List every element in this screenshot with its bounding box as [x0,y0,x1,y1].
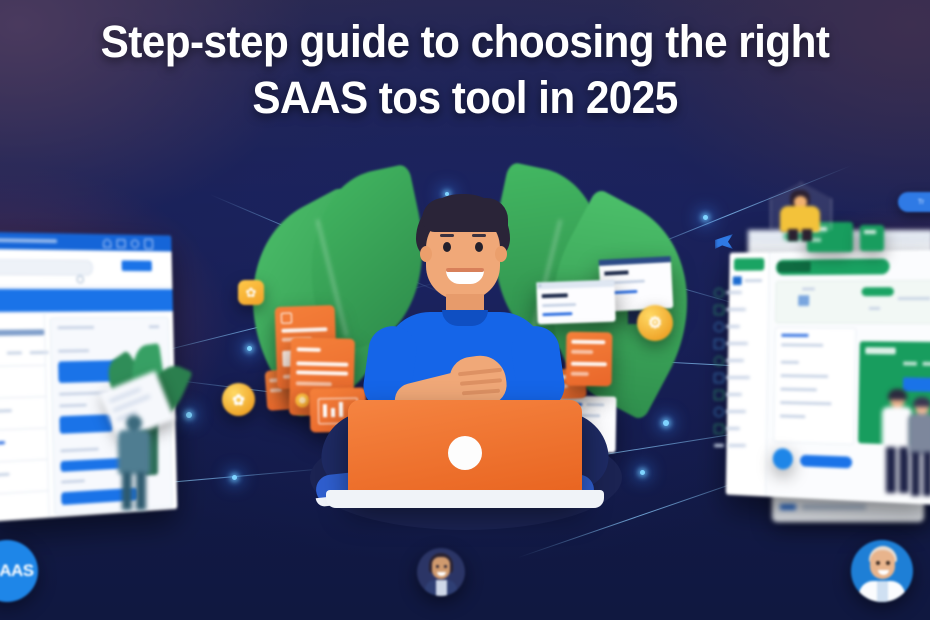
user-icon[interactable] [144,239,153,250]
search-icon [76,276,84,284]
gold-square-left-glyph: ✿ [246,285,257,301]
left-dashboard-action-button[interactable] [122,260,152,271]
standing-figure-left [110,415,160,510]
bell-icon[interactable] [103,239,111,248]
top-right-pill-label: Tr [918,199,924,206]
sidebar-icon[interactable] [714,305,724,315]
right-dashboard-stats [775,280,930,324]
network-node [232,475,237,480]
network-node [640,470,645,475]
grid-icon[interactable] [131,239,139,248]
saas-badge-label: SAAS [0,561,34,581]
hero-banner: Tr ❁ ✿ ✿ ⚙ [0,0,930,620]
hero-character [300,190,630,550]
sidebar-icon[interactable] [714,424,724,434]
green-card-small [860,225,884,251]
ear [495,246,507,262]
left-dashboard-searchbar[interactable] [0,249,172,286]
right-sidebar-icon-list[interactable] [712,286,752,461]
hair-front [422,198,508,232]
sidebar-icon[interactable] [714,356,724,366]
left-dashboard-tabstrip[interactable] [0,289,176,312]
sidebar-cta-button[interactable] [734,258,765,271]
chat-bubble [59,414,113,434]
sidebar-icon[interactable] [714,322,724,332]
title-line-2: SAAS tos tool in 2025 [28,70,902,126]
top-right-pill-button[interactable]: Tr [898,192,930,212]
eyebrow-left [440,234,454,237]
standing-figure-right-b [905,400,930,498]
gold-coin-left-glyph: ✿ [232,391,245,409]
ear [420,246,432,262]
sidebar-icon[interactable] [714,407,724,417]
right-dashboard-submit[interactable] [800,455,852,469]
eye-left [443,242,451,252]
cart-icon[interactable] [117,239,126,248]
sidebar-icon[interactable] [714,288,724,298]
title-line-1: Step-step guide to choosing the right [28,14,902,70]
gold-coin-left: ✿ [222,383,255,416]
eye-right [475,242,483,252]
card-icon [281,312,292,323]
laptop-base [326,490,604,508]
avatar-bottom-right[interactable] [851,540,913,602]
gold-coin-right: ⚙ [637,305,673,341]
right-dashboard-chip [861,287,894,296]
sidebar-icon[interactable] [714,390,724,400]
gold-coin-right-glyph: ⚙ [648,313,662,333]
network-node [703,215,708,220]
hexagon-person-badge [770,182,830,244]
eyebrow-right [472,234,486,237]
right-dashboard-avatar[interactable] [773,448,793,470]
laptop-logo [448,436,482,470]
brand-logo [733,276,742,285]
gold-square-left: ✿ [238,280,264,305]
avatar-bottom-center[interactable] [417,548,465,596]
page-title: Step-step guide to choosing the right SA… [0,14,930,126]
right-dashboard-list [773,327,856,445]
network-node [186,412,192,418]
sidebar-icon[interactable] [714,339,724,349]
sidebar-icon[interactable] [714,373,724,383]
